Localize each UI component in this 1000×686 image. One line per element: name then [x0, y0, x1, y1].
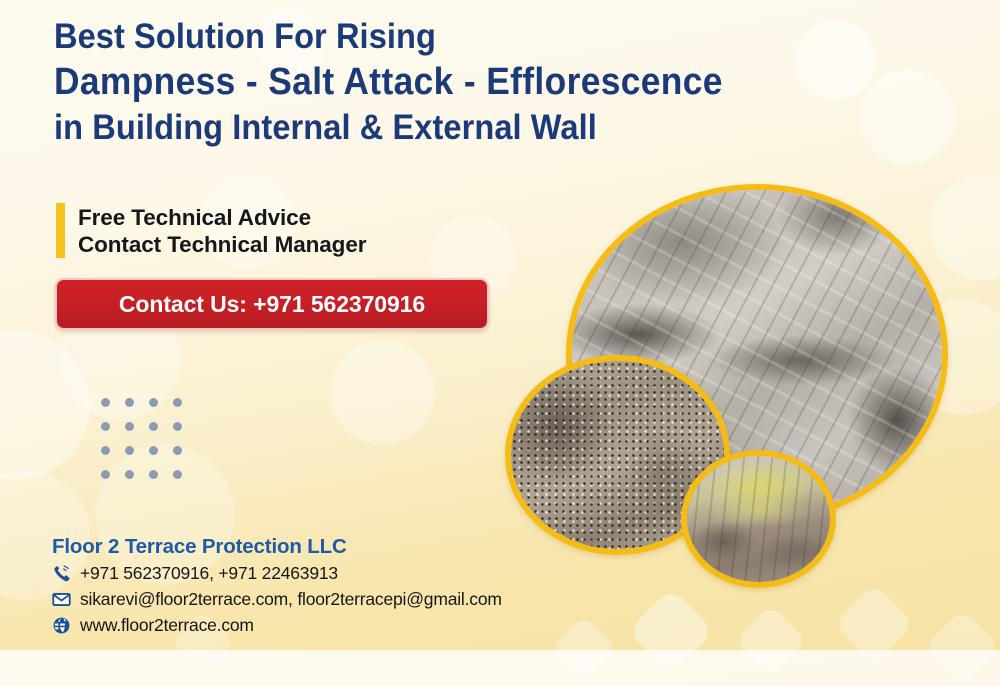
peeling-plaster-texture	[572, 190, 942, 518]
decorative-dot-grid	[101, 398, 197, 494]
bg-circle	[795, 20, 875, 100]
grid-dot	[173, 422, 182, 431]
phone-text: +971 562370916, +971 22463913	[80, 563, 338, 584]
grid-dot	[149, 422, 158, 431]
grid-dot	[149, 470, 158, 479]
footer-contact-block: Floor 2 Terrace Protection LLC +971 5623…	[52, 533, 502, 638]
bg-circle	[930, 175, 1000, 280]
company-name: Floor 2 Terrace Protection LLC	[52, 533, 502, 560]
technical-advice-text: Free Technical Advice Contact Technical …	[78, 203, 366, 258]
damp-wall-texture	[687, 456, 830, 582]
bg-diamond	[833, 583, 915, 665]
grid-dot	[125, 422, 134, 431]
accent-bar	[56, 203, 65, 258]
headline: Best Solution For Rising Dampness - Salt…	[54, 14, 773, 151]
grid-dot	[101, 470, 110, 479]
contact-us-label: Contact Us: +971 562370916	[119, 291, 425, 318]
phone-icon	[52, 564, 71, 583]
bg-circle	[905, 300, 1000, 415]
grid-dot	[101, 398, 110, 407]
grid-dot	[125, 446, 134, 455]
headline-line-3: in Building Internal & External Wall	[54, 105, 723, 151]
photo-damp-efflorescence-wall	[681, 450, 836, 588]
headline-line-1: Best Solution For Rising	[54, 14, 723, 59]
grid-dot	[149, 446, 158, 455]
grid-dot	[101, 422, 110, 431]
grid-dot	[173, 446, 182, 455]
grid-dot	[173, 398, 182, 407]
grid-dot	[149, 398, 158, 407]
website-row[interactable]: www.floor2terrace.com	[52, 613, 502, 638]
bg-diamond	[734, 604, 808, 678]
grid-dot	[125, 470, 134, 479]
contact-us-button[interactable]: Contact Us: +971 562370916	[55, 278, 489, 330]
photo-peeling-plaster-wall	[566, 184, 948, 524]
advice-line-2: Contact Technical Manager	[78, 231, 366, 258]
bg-diamond	[627, 587, 715, 675]
bg-circle	[860, 70, 955, 165]
granular-wall-texture	[511, 361, 724, 549]
grid-dot	[101, 446, 110, 455]
headline-line-2: Dampness - Salt Attack - Efflorescence	[54, 59, 723, 105]
globe-icon	[52, 616, 71, 635]
technical-advice-block: Free Technical Advice Contact Technical …	[56, 203, 366, 258]
email-text: sikarevi@floor2terrace.com, floor2terrac…	[80, 589, 502, 610]
bg-diamond	[550, 615, 618, 683]
photo-granular-salt-damaged-wall	[505, 355, 730, 555]
bg-diamond	[924, 609, 1000, 686]
email-row[interactable]: sikarevi@floor2terrace.com, floor2terrac…	[52, 587, 502, 612]
bg-circle	[0, 330, 90, 480]
envelope-icon	[52, 590, 71, 609]
grid-dot	[125, 398, 134, 407]
website-text: www.floor2terrace.com	[80, 615, 254, 636]
advice-line-1: Free Technical Advice	[78, 204, 366, 231]
phone-row[interactable]: +971 562370916, +971 22463913	[52, 561, 502, 586]
bg-circle	[330, 340, 435, 445]
grid-dot	[173, 470, 182, 479]
